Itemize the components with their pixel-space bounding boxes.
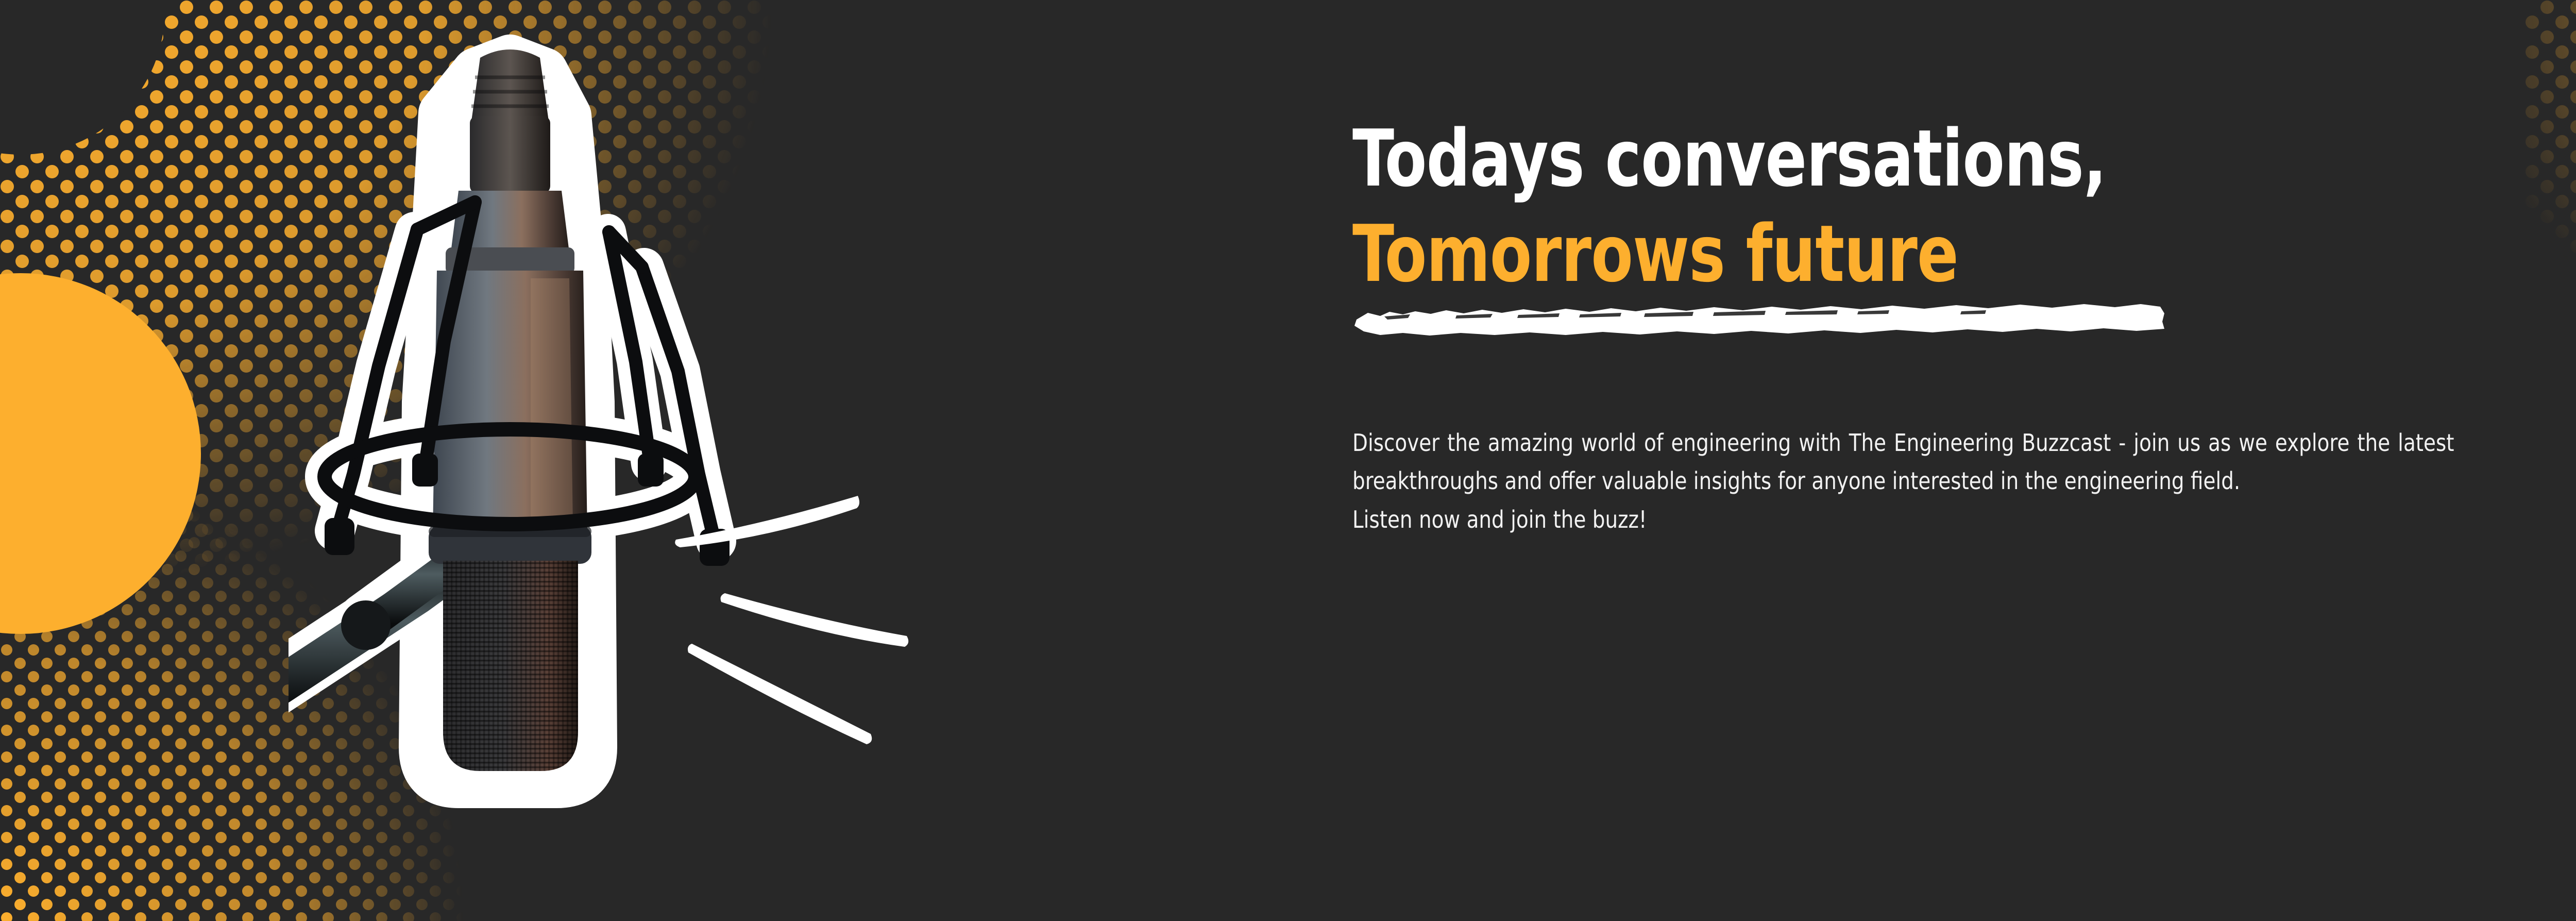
microphone-image [289, 10, 773, 921]
call-to-action-line: Listen now and join the buzz! [1352, 500, 2454, 539]
dark-circle-top-left [0, 0, 165, 155]
text-content-column: Todays conversations, Tomorrows future D… [1352, 111, 2537, 539]
headline-line-2: Tomorrows future [1352, 206, 2383, 302]
brush-stroke-underline [1353, 299, 2167, 336]
body-copy: Discover the amazing world of engineerin… [1352, 424, 2454, 539]
podcast-promo-banner: Todays conversations, Tomorrows future D… [0, 0, 2576, 921]
body-paragraph: Discover the amazing world of engineerin… [1352, 424, 2454, 500]
orange-circle-left [0, 273, 201, 634]
headline-line-1: Todays conversations, [1352, 111, 2383, 206]
